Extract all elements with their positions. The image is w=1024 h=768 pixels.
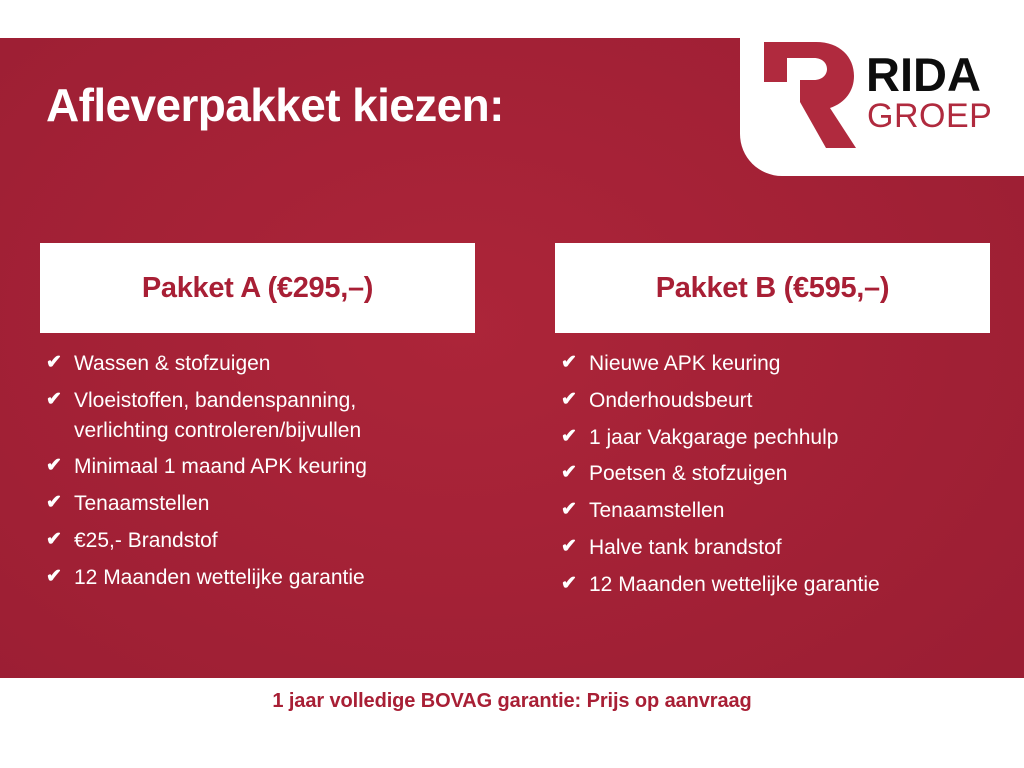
list-item: ✔ €25,- Brandstof	[40, 526, 475, 556]
list-item: ✔ 1 jaar Vakgarage pechhulp	[555, 423, 990, 453]
package-b-title: Pakket B (€595,–)	[656, 272, 890, 305]
logo-panel: RIDA GROEP	[740, 0, 1024, 176]
check-icon: ✔	[46, 563, 74, 592]
footer-banner: 1 jaar volledige BOVAG garantie: Prijs o…	[0, 678, 1024, 768]
check-icon: ✔	[561, 533, 589, 562]
feature-label: 12 Maanden wettelijke garantie	[589, 570, 990, 600]
feature-label: Tenaamstellen	[74, 489, 475, 519]
check-icon: ✔	[561, 459, 589, 488]
package-b-card[interactable]: Pakket B (€595,–)	[555, 243, 990, 333]
logo-name-primary: RIDA	[866, 53, 992, 96]
feature-label: Halve tank brandstof	[589, 533, 990, 563]
feature-label: 1 jaar Vakgarage pechhulp	[589, 423, 990, 453]
package-a-card[interactable]: Pakket A (€295,–)	[40, 243, 475, 333]
check-icon: ✔	[46, 349, 74, 378]
list-item: ✔ Wassen & stofzuigen	[40, 349, 475, 379]
feature-label: Nieuwe APK keuring	[589, 349, 990, 379]
check-icon: ✔	[561, 386, 589, 415]
feature-label: Minimaal 1 maand APK keuring	[74, 452, 475, 482]
list-item: ✔ Minimaal 1 maand APK keuring	[40, 452, 475, 482]
logo-wordmark: RIDA GROEP	[866, 53, 992, 132]
list-item: ✔ Tenaamstellen	[555, 496, 990, 526]
list-item: ✔ Vloeistoffen, bandenspanning, verlicht…	[40, 386, 475, 446]
feature-label: Tenaamstellen	[589, 496, 990, 526]
list-item: ✔ 12 Maanden wettelijke garantie	[555, 570, 990, 600]
list-item: ✔ Onderhoudsbeurt	[555, 386, 990, 416]
slide-root: Afleverpakket kiezen: RIDA GROEP Pakket …	[0, 0, 1024, 768]
list-item: ✔ Poetsen & stofzuigen	[555, 459, 990, 489]
feature-label: Vloeistoffen, bandenspanning, verlichtin…	[74, 386, 475, 446]
list-item: ✔ Tenaamstellen	[40, 489, 475, 519]
logo-name-secondary: GROEP	[867, 99, 992, 133]
check-icon: ✔	[46, 452, 74, 481]
feature-label: 12 Maanden wettelijke garantie	[74, 563, 475, 593]
check-icon: ✔	[46, 526, 74, 555]
rida-r-monogram-icon	[756, 36, 860, 148]
footer-note: 1 jaar volledige BOVAG garantie: Prijs o…	[272, 690, 751, 713]
check-icon: ✔	[561, 496, 589, 525]
page-title: Afleverpakket kiezen:	[46, 78, 504, 132]
check-icon: ✔	[561, 349, 589, 378]
logo-lockup: RIDA GROEP	[740, 36, 992, 148]
list-item: ✔ Nieuwe APK keuring	[555, 349, 990, 379]
package-column-a: Pakket A (€295,–) ✔ Wassen & stofzuigen …	[40, 243, 475, 600]
package-column-b: Pakket B (€595,–) ✔ Nieuwe APK keuring ✔…	[555, 243, 990, 607]
list-item: ✔ Halve tank brandstof	[555, 533, 990, 563]
feature-label: Wassen & stofzuigen	[74, 349, 475, 379]
feature-label: Onderhoudsbeurt	[589, 386, 990, 416]
package-a-feature-list: ✔ Wassen & stofzuigen ✔ Vloeistoffen, ba…	[40, 349, 475, 593]
list-item: ✔ 12 Maanden wettelijke garantie	[40, 563, 475, 593]
check-icon: ✔	[561, 423, 589, 452]
feature-label: €25,- Brandstof	[74, 526, 475, 556]
feature-label: Poetsen & stofzuigen	[589, 459, 990, 489]
check-icon: ✔	[561, 570, 589, 599]
package-b-feature-list: ✔ Nieuwe APK keuring ✔ Onderhoudsbeurt ✔…	[555, 349, 990, 600]
package-a-title: Pakket A (€295,–)	[142, 272, 373, 305]
check-icon: ✔	[46, 386, 74, 415]
check-icon: ✔	[46, 489, 74, 518]
